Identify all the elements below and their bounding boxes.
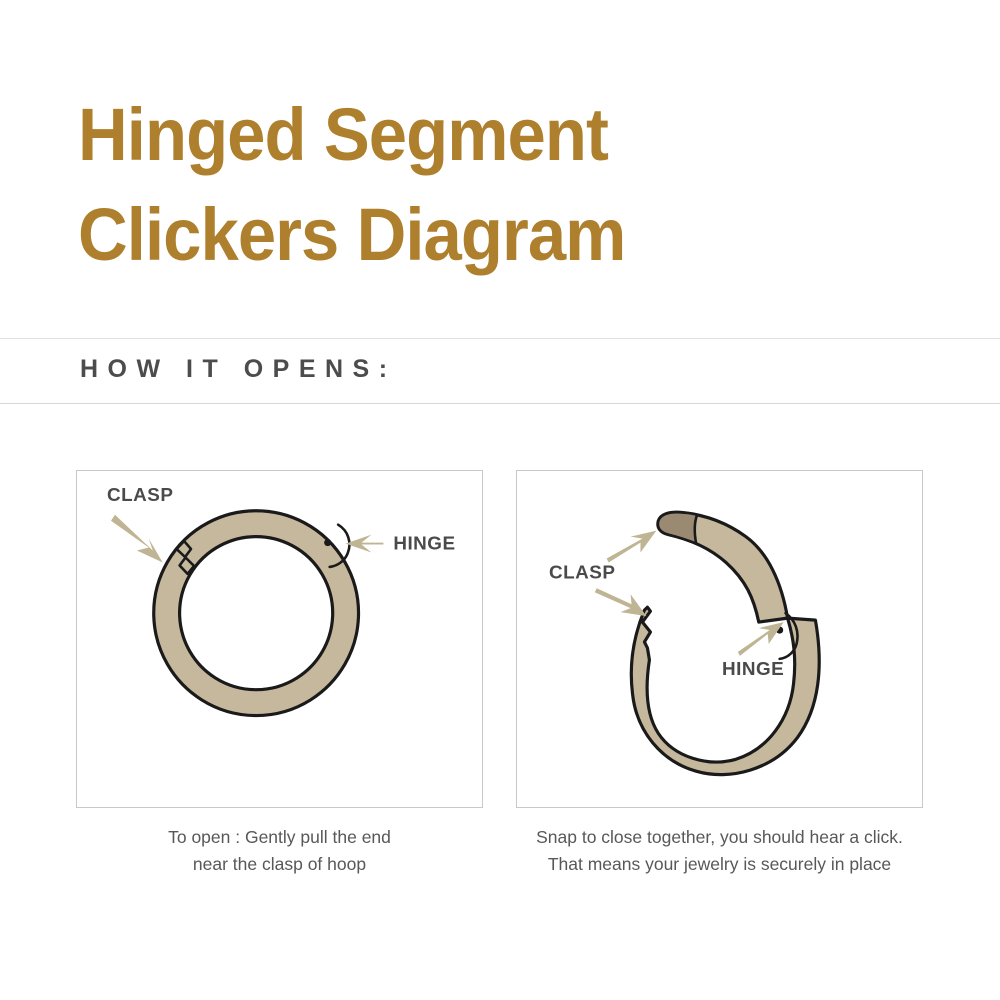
caption-line-2: near the clasp of hoop: [76, 851, 483, 878]
caption-line-2: That means your jewelry is securely in p…: [516, 851, 923, 878]
hinge-pivot-dot: [324, 539, 331, 546]
panel-closed-hoop: CLASP HINGE: [76, 470, 483, 808]
title-line-2: Clickers Diagram: [78, 185, 878, 285]
section-divider-top: [0, 338, 1000, 339]
section-heading: HOW IT OPENS:: [80, 355, 397, 384]
clasp-label: CLASP: [549, 562, 615, 583]
caption-line-1: To open : Gently pull the end: [76, 824, 483, 851]
clasp-label: CLASP: [107, 485, 173, 506]
page-title: Hinged Segment Clickers Diagram: [78, 85, 938, 285]
diagram-page: Hinged Segment Clickers Diagram HOW IT O…: [0, 0, 1000, 1000]
hinge-label: HINGE: [722, 659, 784, 680]
caption-open-hoop: Snap to close together, you should hear …: [516, 824, 923, 878]
hinge-label: HINGE: [393, 534, 455, 555]
caption-line-1: Snap to close together, you should hear …: [516, 824, 923, 851]
clasp-arrow-icon: [111, 515, 163, 563]
open-hoop-illustration: CLASP HINGE: [517, 471, 922, 807]
caption-closed-hoop: To open : Gently pull the end near the c…: [76, 824, 483, 878]
panel-open-hoop: CLASP HINGE: [516, 470, 923, 808]
closed-hoop-illustration: CLASP HINGE: [77, 471, 482, 807]
section-divider-bottom: [0, 403, 1000, 404]
clasp-arrow-lower-icon: [595, 588, 647, 616]
clasp-arrow-upper-icon: [607, 531, 657, 563]
title-line-1: Hinged Segment: [78, 85, 878, 185]
clasp-tip: [658, 512, 697, 543]
hinge-arrow-icon: [346, 535, 384, 553]
hinge-arrow-icon: [738, 622, 784, 656]
hoop-fixed-arc: [631, 607, 819, 774]
